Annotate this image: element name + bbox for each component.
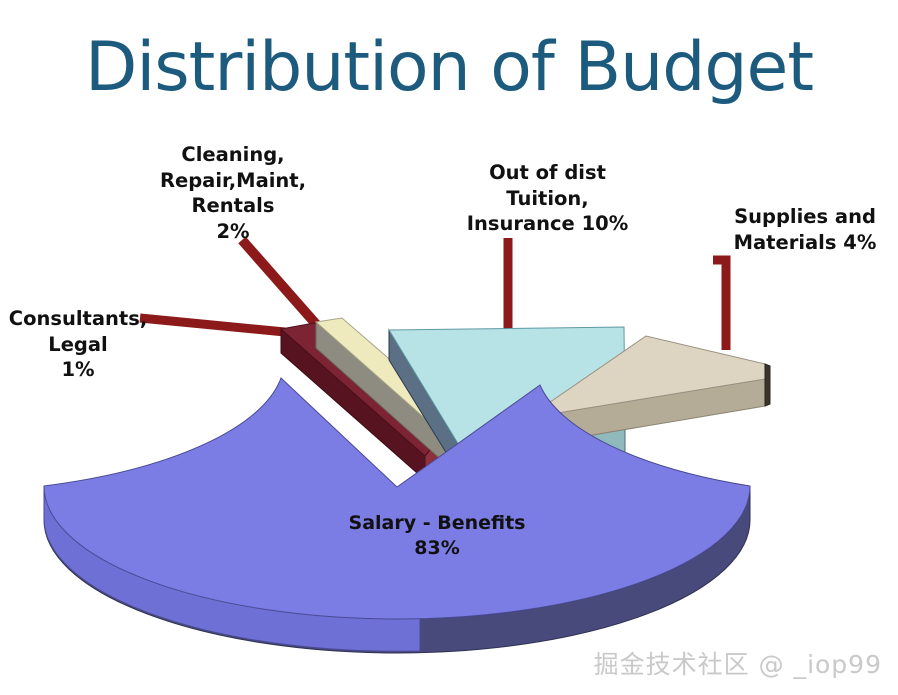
label-consultants-legal: Consultants, Legal 1%	[0, 306, 158, 383]
chart-canvas: Distribution of Budget	[0, 0, 898, 695]
label-cleaning-repair-maint-rentals: Cleaning, Repair,Maint, Rentals 2%	[128, 142, 338, 245]
pie-slice-supplies-edge	[765, 364, 770, 406]
label-out-of-dist-tuition-insurance: Out of dist Tuition, Insurance 10%	[440, 160, 655, 237]
leader-line-consultants	[140, 318, 285, 332]
watermark: 掘金技术社区 @ _iop99	[594, 645, 882, 681]
label-supplies-and-materials: Supplies and Materials 4%	[712, 204, 898, 255]
leader-line-supplies	[713, 260, 726, 350]
label-salary-benefits: Salary - Benefits 83%	[262, 511, 612, 562]
